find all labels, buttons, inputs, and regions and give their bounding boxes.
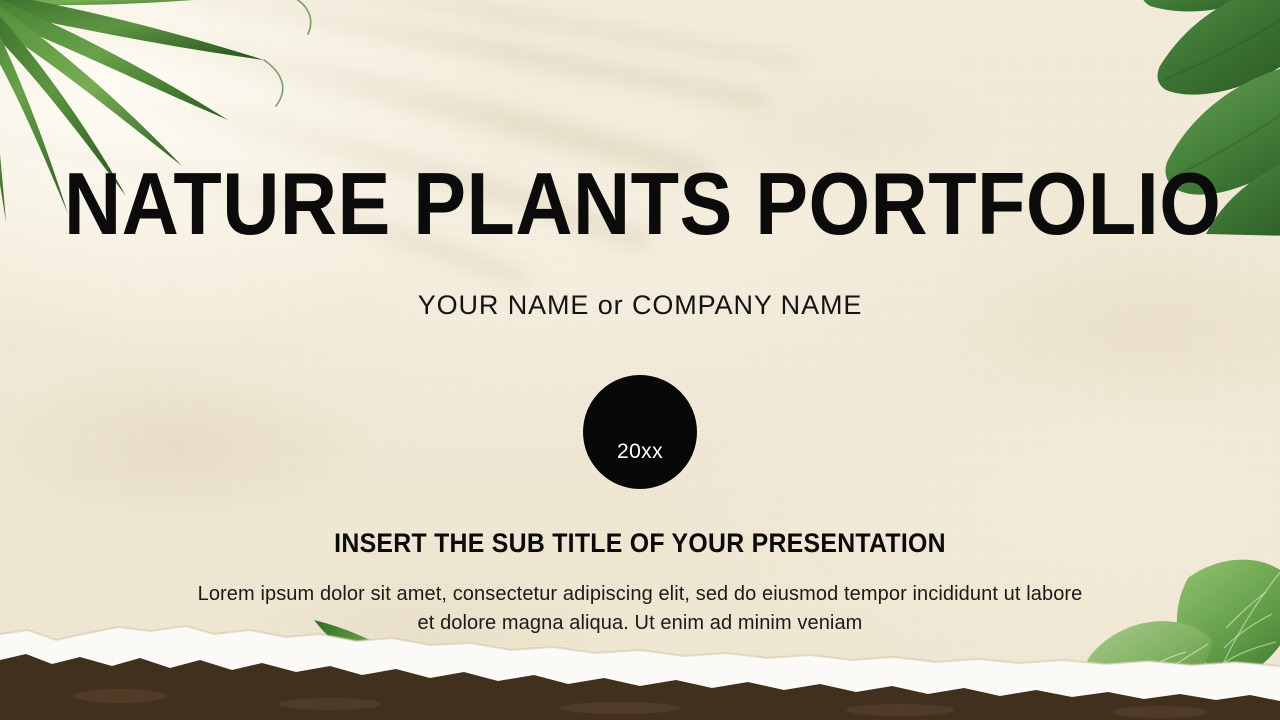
year-badge-label: 20xx <box>617 440 663 464</box>
slide-subtitle: INSERT THE SUB TITLE OF YOUR PRESENTATIO… <box>51 528 1229 559</box>
body-line-1: Lorem ipsum dolor sit amet, consectetur … <box>198 583 998 605</box>
author-byline: YOUR NAME or COMPANY NAME <box>0 290 1280 321</box>
body-paragraph: Lorem ipsum dolor sit amet, consectetur … <box>190 580 1090 638</box>
presentation-slide: NATURE PLANTS PORTFOLIO YOUR NAME or COM… <box>0 0 1280 720</box>
slide-content: NATURE PLANTS PORTFOLIO YOUR NAME or COM… <box>0 0 1280 720</box>
year-badge: 20xx <box>583 375 697 489</box>
page-title: NATURE PLANTS PORTFOLIO <box>64 160 1216 248</box>
